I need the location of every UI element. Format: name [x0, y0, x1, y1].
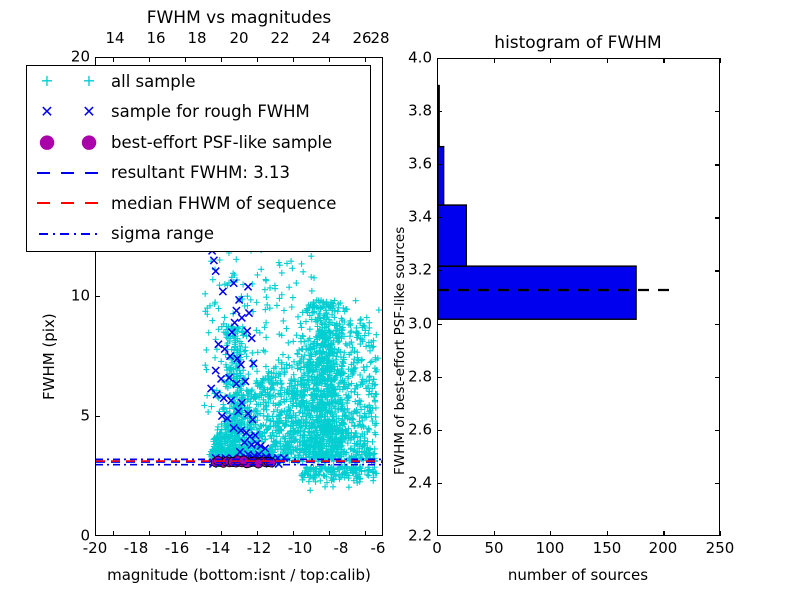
left-xtick-top-0: 14	[105, 31, 124, 46]
left-xtick-mark-top-0	[113, 57, 114, 62]
left-yaxis-label: FWHM (pix)	[40, 313, 58, 400]
left-xtick-mark-bottom-5	[293, 531, 294, 536]
right-panel-title: histogram of FWHM	[494, 33, 661, 53]
dashed-line-icon	[27, 158, 111, 188]
plus-icon: +	[82, 73, 95, 89]
left-xtick-mark-bottom-4	[257, 531, 258, 536]
legend-item-median-fhwm[interactable]: median FHWM of sequence	[27, 188, 370, 219]
right-xtick-200: 200	[649, 541, 678, 556]
right-xaxis-label: number of sources	[508, 566, 648, 584]
left-ytick-20: 20	[58, 50, 90, 65]
left-xtick-top-6: 26	[352, 31, 371, 46]
right-ytick-mark-2.6	[437, 430, 442, 431]
right-ytick-2.2: 2.2	[394, 529, 432, 544]
right-ytick-mark-3.4	[437, 217, 442, 218]
legend-item-resultant-fwhm[interactable]: resultant FWHM: 3.13	[27, 158, 370, 189]
right-ytick-mark-right-7	[715, 164, 720, 165]
left-xaxis-label: magnitude (bottom:isnt / top:calib)	[107, 566, 371, 584]
right-ytick-mark-right-1	[715, 483, 720, 484]
right-xtick-mark-top-1	[494, 58, 495, 63]
histogram-canvas	[438, 59, 719, 535]
cross-icon: ✕	[40, 104, 53, 120]
right-ytick-mark-3.0	[437, 324, 442, 325]
legend-key-dashed-blue	[27, 158, 111, 188]
left-xtick-mark-bottom-2	[185, 531, 186, 536]
legend-item-sigma-range[interactable]: sigma range	[27, 219, 370, 250]
legend-key-dashed-red	[27, 188, 111, 218]
left-xtick-mark-top-5	[293, 57, 294, 62]
filled-circle-icon: ●	[39, 133, 56, 152]
left-xtick-top-3: 20	[229, 31, 248, 46]
right-ytick-mark-2.8	[437, 377, 442, 378]
right-ytick-mark-3.6	[437, 164, 442, 165]
left-xtick-top-7: 28	[370, 31, 389, 46]
legend-key-circle: ● ●	[27, 127, 111, 157]
legend-label-sigma-range: sigma range	[111, 224, 214, 243]
right-ytick-3.8: 3.8	[394, 104, 432, 119]
right-xtick-50: 50	[484, 541, 503, 556]
left-xtick-mark-top-4	[257, 57, 258, 62]
left-xtick-mark-top-7	[365, 57, 366, 62]
legend-item-psf-sample[interactable]: ● ● best-effort PSF-like sample	[27, 127, 370, 158]
right-ytick-4.0: 4.0	[394, 51, 432, 66]
right-ytick-mark-3.2	[437, 270, 442, 271]
legend-label-resultant-fwhm: resultant FWHM: 3.13	[111, 163, 290, 182]
cross-icon: ✕	[82, 104, 95, 120]
filled-circle-icon: ●	[81, 133, 98, 152]
left-xtick-top-2: 18	[187, 31, 206, 46]
dashdot-line-icon	[27, 219, 111, 249]
legend-label-all-sample: all sample	[111, 72, 196, 91]
figure-canvas: FWHM vs magnitudes 14 16 18 20 22 24 26 …	[0, 0, 800, 600]
left-xtick-bottom-7: -6	[371, 541, 386, 556]
left-xtick-mark-bottom-7	[365, 531, 366, 536]
left-xtick-mark-bottom-0	[113, 531, 114, 536]
right-xtick-mark-1	[494, 531, 495, 536]
right-ytick-mark-right-5	[715, 270, 720, 271]
right-ytick-3.6: 3.6	[394, 157, 432, 172]
plus-icon: +	[40, 73, 53, 89]
legend-box: + + all sample ✕ ✕ sample for rough FWHM…	[26, 65, 371, 252]
left-ytick-5: 5	[58, 409, 90, 424]
right-plot-axes	[437, 58, 720, 536]
right-ytick-mark-right-3	[715, 377, 720, 378]
right-xtick-mark-4	[663, 531, 664, 536]
right-xtick-mark-0	[437, 531, 438, 536]
legend-key-plus: + +	[27, 66, 111, 96]
right-ytick-mark-right-8	[715, 111, 720, 112]
left-xtick-bottom-4: -12	[247, 541, 272, 556]
left-xtick-mark-top-6	[329, 57, 330, 62]
left-xtick-top-1: 16	[146, 31, 165, 46]
left-panel-title: FWHM vs magnitudes	[147, 8, 332, 28]
left-xtick-top-4: 22	[270, 31, 289, 46]
legend-key-cross: ✕ ✕	[27, 97, 111, 127]
right-xtick-mark-2	[550, 531, 551, 536]
right-ytick-mark-right-6	[715, 217, 720, 218]
right-yaxis-label: FWHM of best-effort PSF-like sources	[392, 227, 408, 475]
right-xtick-mark-3	[607, 531, 608, 536]
legend-item-all-sample[interactable]: + + all sample	[27, 66, 370, 97]
legend-label-psf-sample: best-effort PSF-like sample	[111, 133, 332, 152]
left-ytick-mark-5	[95, 416, 100, 417]
right-ytick-mark-2.4	[437, 483, 442, 484]
legend-label-median-fhwm: median FHWM of sequence	[111, 194, 336, 213]
left-xtick-mark-bottom-3	[221, 531, 222, 536]
right-xtick-250: 250	[706, 541, 735, 556]
right-ytick-mark-right-2	[715, 430, 720, 431]
right-xtick-150: 150	[593, 541, 622, 556]
left-xtick-bottom-2: -16	[165, 541, 190, 556]
right-xtick-mark-5	[720, 531, 721, 536]
left-ytick-mark-10	[95, 296, 100, 297]
left-xtick-mark-top-1	[149, 57, 150, 62]
left-xtick-mark-bottom-6	[329, 531, 330, 536]
right-xtick-mark-top-2	[550, 58, 551, 63]
left-xtick-bottom-6: -8	[334, 541, 349, 556]
left-xtick-mark-top-2	[185, 57, 186, 62]
right-xtick-mark-top-4	[663, 58, 664, 63]
left-ytick-10: 10	[58, 289, 90, 304]
right-ytick-mark-right-4	[715, 324, 720, 325]
legend-key-dashdot	[27, 219, 111, 249]
left-xtick-bottom-5: -10	[288, 541, 313, 556]
histogram-svg	[438, 59, 719, 535]
right-xtick-mark-top-0	[437, 58, 438, 63]
left-xtick-mark-bottom-1	[149, 531, 150, 536]
right-xtick-mark-top-5	[720, 58, 721, 63]
right-xtick-mark-top-3	[607, 58, 608, 63]
left-xtick-top-5: 24	[311, 31, 330, 46]
left-xtick-bottom-0: -20	[83, 541, 108, 556]
right-ytick-mark-3.8	[437, 111, 442, 112]
right-ytick-2.4: 2.4	[394, 476, 432, 491]
legend-item-rough-fwhm[interactable]: ✕ ✕ sample for rough FWHM	[27, 97, 370, 128]
left-xtick-bottom-3: -14	[206, 541, 231, 556]
left-xtick-mark-top-3	[221, 57, 222, 62]
right-ytick-3.4: 3.4	[394, 210, 432, 225]
right-xtick-0: 0	[432, 541, 442, 556]
dashed-line-icon	[27, 188, 111, 218]
legend-label-rough-fwhm: sample for rough FWHM	[111, 102, 310, 121]
right-xtick-100: 100	[536, 541, 565, 556]
left-xtick-bottom-1: -18	[124, 541, 149, 556]
